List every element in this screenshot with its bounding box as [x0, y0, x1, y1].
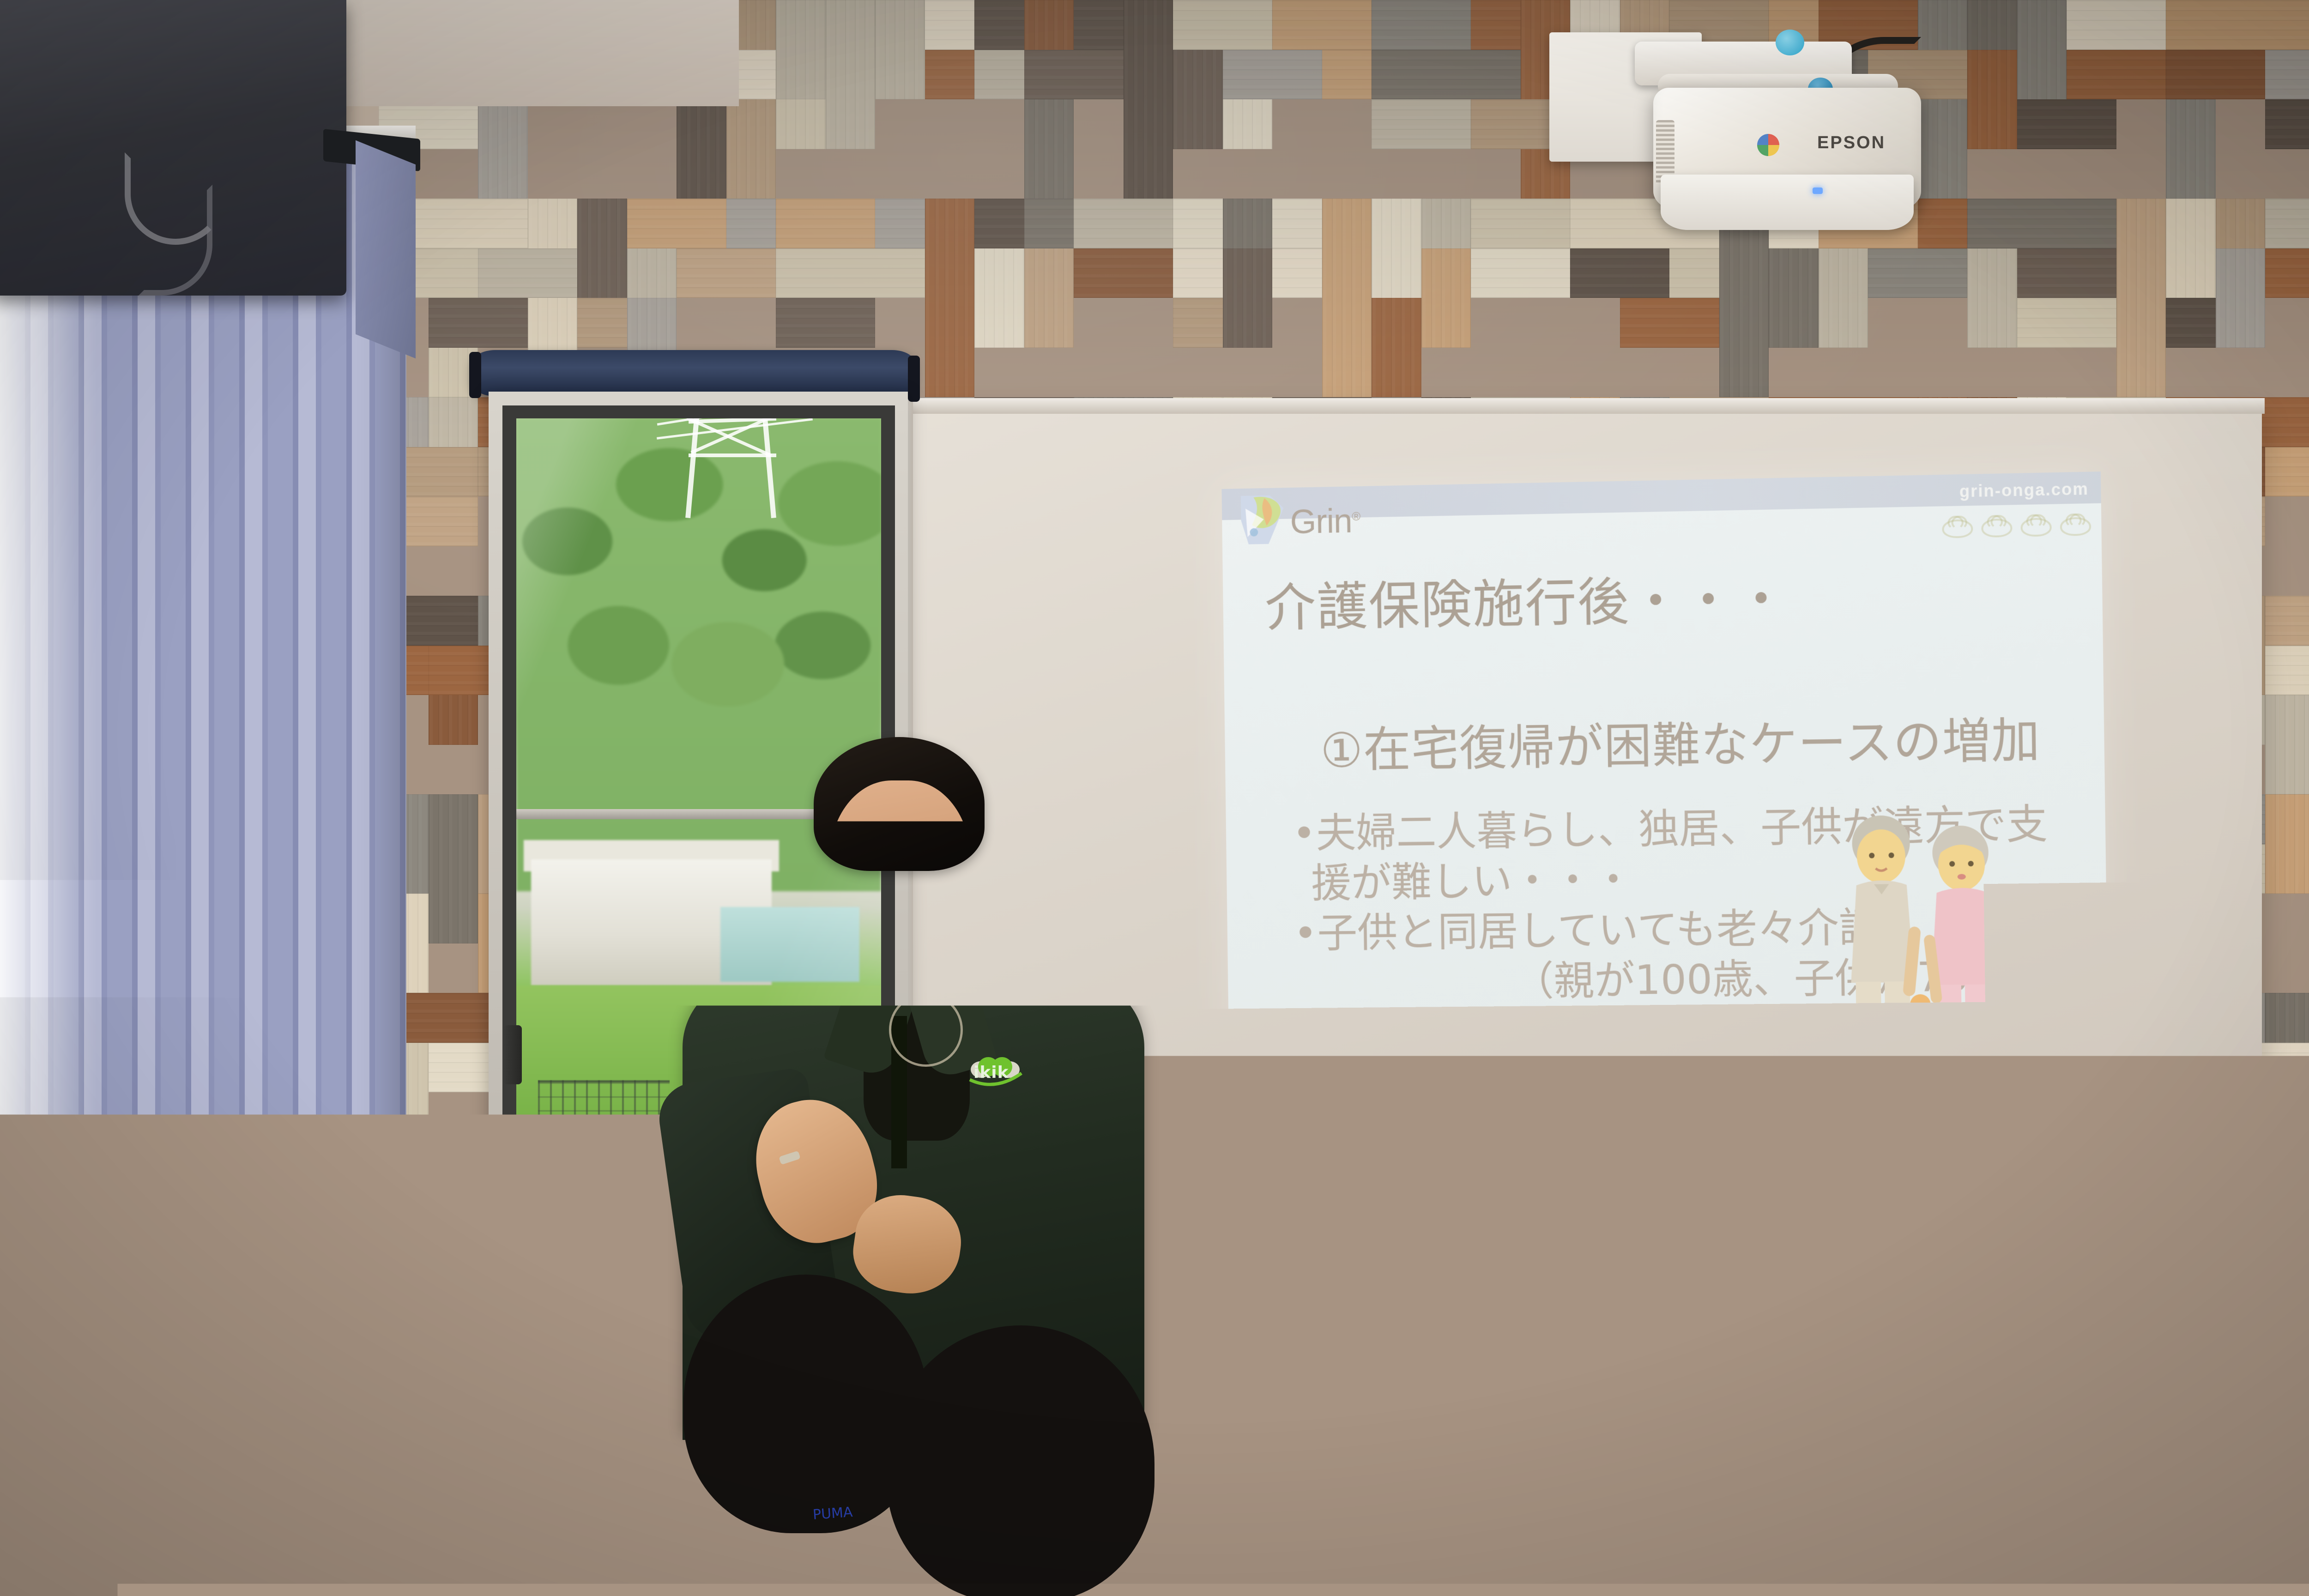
screen-top-rail: [906, 398, 2265, 414]
projected-slide: Grin® grin-onga.com 介護保険施行後・・・ ①在宅復帰が困難な…: [1221, 472, 2109, 1130]
presenter-nose: [885, 876, 905, 910]
blind-bracket-right-icon: [908, 356, 920, 402]
slide-footer-watermark: kaigo-ikik.com: [1241, 1104, 1355, 1122]
projector-lens-housing: [1661, 175, 1914, 230]
presenter-mouth: [876, 917, 927, 944]
presenter-eye-right: [911, 861, 941, 871]
cloud-icon: [1942, 519, 1973, 538]
screenshot-scene: EPSON Grin® grin-onga.com 介護保険施行後・・・ ①在宅…: [0, 0, 2309, 1596]
presenter-shirt-logo-text: ikik: [973, 1063, 1009, 1082]
presenter-eye-left: [855, 863, 886, 873]
cloud-icon: [2060, 517, 2091, 536]
grin-wordmark: Grin®: [1290, 501, 1360, 541]
roller-blind-valance[interactable]: [472, 350, 915, 396]
power-led-icon: [1813, 187, 1823, 194]
audience-head: [1441, 1242, 1690, 1501]
grin-logo-icon: [1238, 492, 1289, 547]
blind-slat[interactable]: [356, 140, 416, 359]
audience-head: [887, 1325, 1154, 1596]
presenter-shirt-logo: ikik: [965, 1053, 1025, 1090]
color-wheel-icon: [1757, 134, 1779, 156]
presenter-ear: [821, 854, 845, 894]
window-handle[interactable]: [503, 1025, 522, 1084]
audience-shirt-print: PUMA: [812, 1504, 853, 1523]
slide-point-1: ①在宅復帰が困難なケースの増加: [1320, 701, 2041, 781]
cloud-icon: [2020, 518, 2052, 537]
window-daylight-glow: [0, 139, 97, 1596]
slide-header-url: grin-onga.com: [1959, 479, 2089, 502]
projector-cyan-knob[interactable]: [1776, 30, 1804, 55]
blind-bracket-left-icon: [469, 352, 481, 398]
elderly-couple-illustration: [1825, 809, 2029, 1090]
cloud-icon: [1981, 519, 2012, 538]
paper-stamp-mark: [2062, 1450, 2082, 1460]
slide-title: 介護保険施行後・・・: [1264, 557, 1789, 641]
projector-brand-label: EPSON: [1817, 133, 1886, 153]
grass-footer-decoration: [1229, 1088, 2109, 1130]
presenter-necklace: [889, 993, 963, 1067]
cloud-decoration-icons: [1936, 512, 2091, 544]
